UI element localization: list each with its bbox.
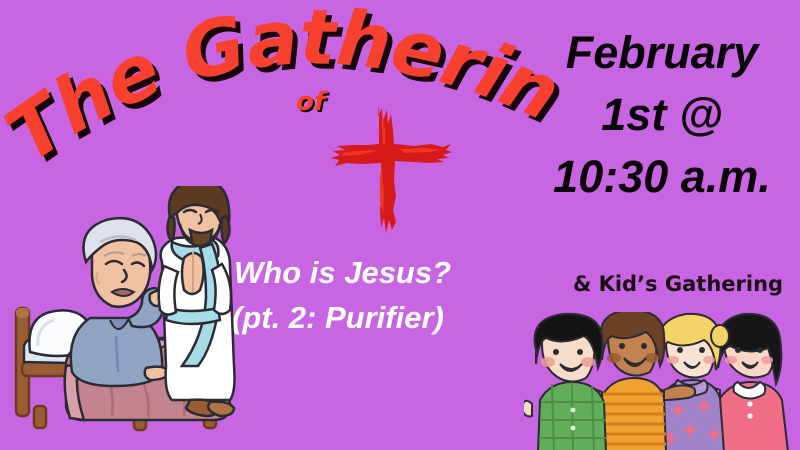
kids-group-illustration [524, 312, 800, 450]
pink-child-blush-right [761, 356, 773, 364]
orange-child-blush-left [607, 353, 621, 363]
green-child-blush-right [581, 357, 595, 367]
cross-brush-strokes [331, 104, 452, 233]
pink-child-eye-left [735, 347, 741, 353]
green-child-eye-left [553, 349, 559, 355]
green-child-eye-right [577, 349, 583, 355]
elderly-woman-figure [71, 218, 170, 386]
jesus-figure [159, 186, 235, 416]
hair-pigtail [711, 325, 729, 347]
sleeve-left [159, 266, 178, 315]
purple-child-blush-right [703, 356, 715, 364]
cross-stroke-base [331, 104, 452, 233]
pink-child-blush-left [725, 356, 737, 364]
hair-right-lock [221, 216, 229, 244]
pink-child-eye-right [757, 347, 763, 353]
child-green-plaid-shirt [524, 314, 606, 450]
bed-leg-left [34, 406, 46, 428]
sermon-title: Who is Jesus? (pt. 2: Purifier) [234, 250, 544, 340]
cross-icon [325, 100, 455, 235]
sermon-line-part: (pt. 2: Purifier) [232, 295, 544, 340]
green-child-hand [524, 401, 532, 417]
sermon-line-question: Who is Jesus? [234, 250, 544, 295]
date-line-month: February [524, 22, 800, 84]
bedside-illustration [14, 186, 258, 436]
arched-title: The Gathering The Gathering [0, 0, 576, 194]
purple-child-eye-right [699, 347, 705, 353]
date-line-time: 10:30 a.m. [524, 146, 800, 208]
purple-child-blush-left [667, 356, 679, 364]
green-shirt-button-1 [571, 408, 576, 413]
dress-button-2 [747, 413, 752, 418]
orange-child-eye-right [641, 343, 647, 349]
bed-headboard-cap [16, 308, 29, 318]
title-connector-of: of [296, 87, 325, 117]
orange-child-blush-right [645, 353, 659, 363]
hair-left-lock [167, 216, 174, 242]
green-child-blush-left [541, 357, 555, 367]
open-mouth [112, 289, 134, 296]
date-line-day: 1st @ [524, 84, 800, 146]
church-event-poster: The Gathering The Gathering of February … [0, 0, 800, 450]
kids-gathering-label: & Kid’s Gathering [556, 272, 800, 296]
event-datetime: February 1st @ 10:30 a.m. [524, 22, 800, 208]
orange-child-arm-right [664, 385, 695, 400]
orange-child-eye-left [619, 343, 625, 349]
plaid-v2 [572, 382, 573, 450]
dress-button-1 [747, 401, 752, 406]
green-shirt-button-2 [571, 426, 576, 431]
purple-child-eye-left [677, 347, 683, 353]
